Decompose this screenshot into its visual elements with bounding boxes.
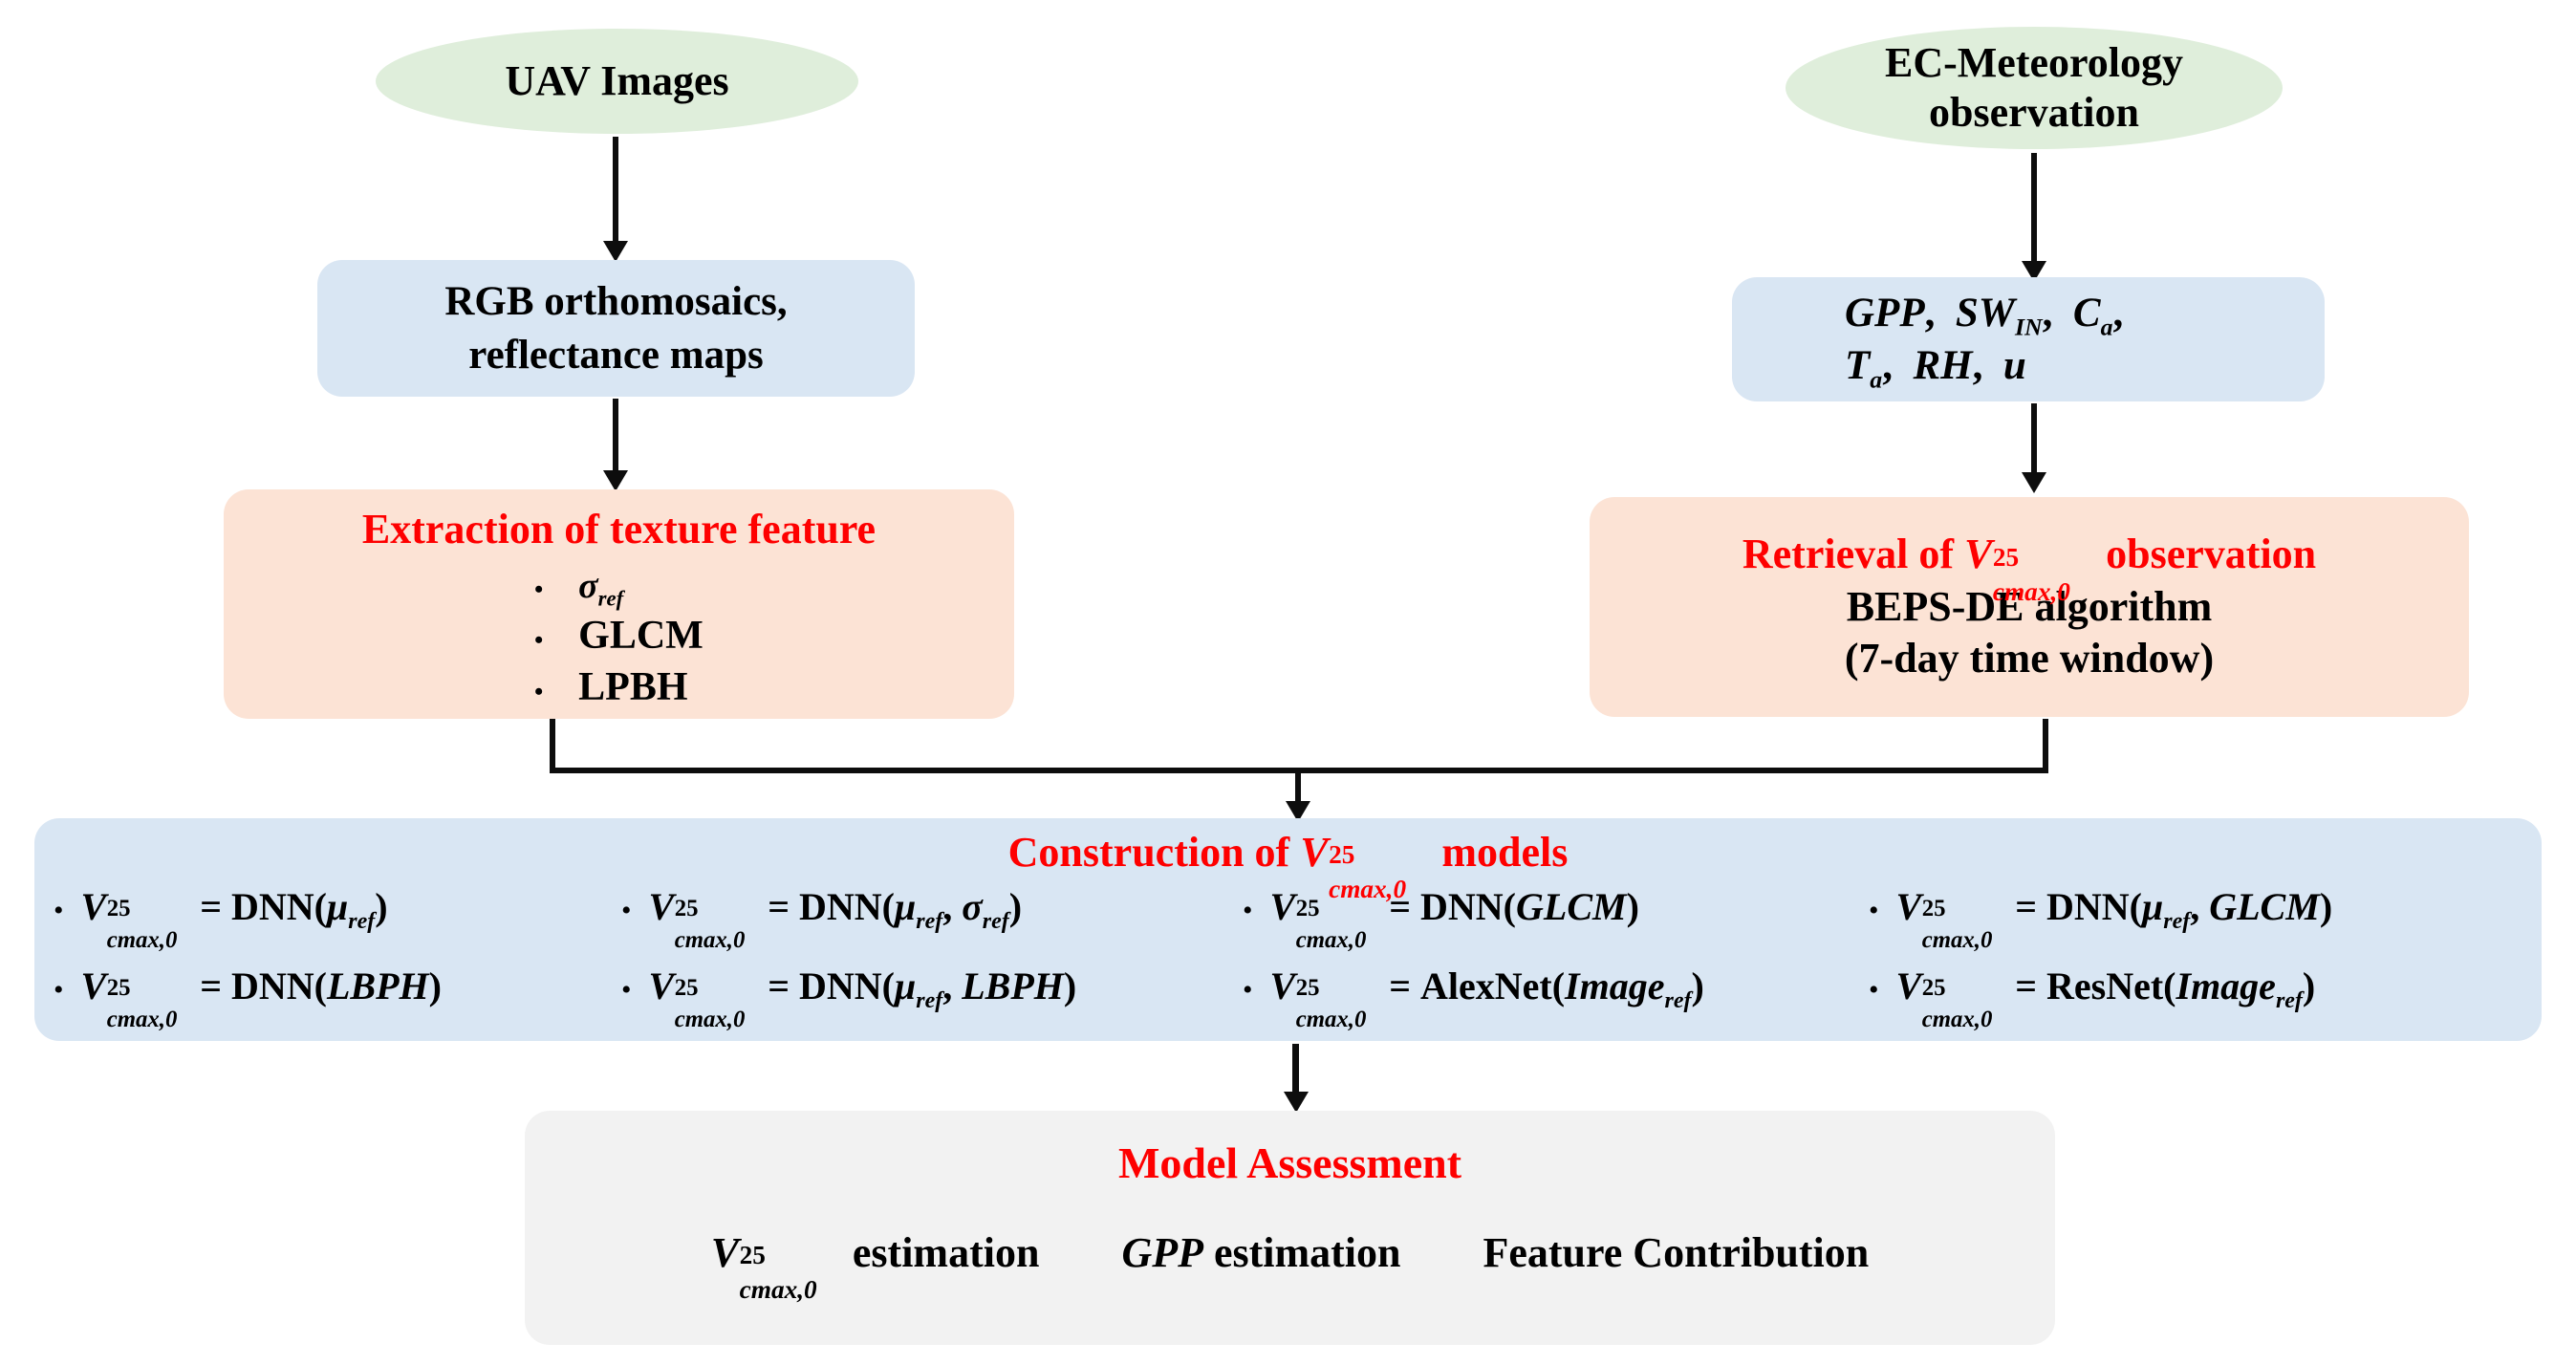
model-equation-8: • V25cmax,0= ResNet(Imageref)	[1869, 964, 2315, 1008]
model-equation-8-text: V25cmax,0= ResNet(Imageref)	[1896, 964, 2316, 1008]
connector-uav-to-rgb	[613, 137, 618, 247]
var-sw-sub: IN	[2015, 314, 2043, 341]
var-rh: RH	[1913, 343, 1972, 388]
model-equation-2-text: V25cmax,0= DNN(μref, σref)	[649, 884, 1023, 929]
assessment-item-feature-contribution: Feature Contribution	[1483, 1228, 1870, 1277]
bullet-icon: •	[54, 897, 64, 925]
sep-1: ,	[1925, 291, 1936, 336]
bullet-icon: •	[621, 897, 632, 925]
model-equation-4-text: V25cmax,0= DNN(μref, GLCM)	[1896, 884, 2333, 929]
texture-item-sigma: • σref	[534, 565, 704, 607]
texture-item-glcm-label: GLCM	[578, 613, 704, 659]
model-equation-6-text: V25cmax,0= DNN(μref, LBPH)	[649, 964, 1077, 1008]
node-texture-extraction: Extraction of texture feature • σref • G…	[224, 489, 1014, 719]
node-ec-variables: GPP, SWIN, Ca, Ta, RH, u	[1732, 277, 2325, 401]
node-ec-line1: EC-Meteorology	[1885, 38, 2183, 88]
node-uav-images: UAV Images	[376, 29, 858, 134]
assessment-item-vcmax: V25cmax,0 estimation	[711, 1228, 1040, 1277]
vcmax-symbol: V25cmax,0	[1964, 529, 1992, 581]
rgb-line1: RGB orthomosaics,	[444, 275, 787, 328]
retrieval-heading: Retrieval of V25cmax,0 observation	[1743, 529, 2316, 581]
arrowhead-models-to-assessment	[1284, 1092, 1309, 1113]
texture-heading: Extraction of texture feature	[362, 505, 876, 553]
var-u: u	[2003, 343, 2026, 388]
model-equation-1-text: V25cmax,0= DNN(μref)	[81, 884, 388, 929]
bullet-icon: •	[1869, 976, 1879, 1005]
texture-item-sigma-label: σref	[578, 565, 623, 607]
var-gpp: GPP	[1845, 291, 1925, 336]
node-uav-images-label: UAV Images	[505, 56, 728, 106]
bullet-icon: •	[534, 680, 578, 704]
model-equation-3-text: V25cmax,0= DNN(GLCM)	[1270, 884, 1639, 929]
assessment-items: V25cmax,0 estimation GPP estimation Feat…	[525, 1228, 2055, 1277]
retrieval-line3: (7-day time window)	[1845, 633, 2214, 685]
connector-retrieval-down	[2043, 719, 2048, 773]
model-equation-3: • V25cmax,0= DNN(GLCM)	[1243, 884, 1639, 929]
assessment-item-gpp: GPP estimation	[1121, 1228, 1400, 1277]
texture-item-lpbh-label: LPBH	[578, 664, 687, 710]
arrowhead-rgb-to-texture	[603, 470, 628, 491]
connector-texture-down	[550, 719, 555, 773]
flowchart-canvas: UAV Images EC-Meteorology observation RG…	[0, 0, 2576, 1365]
sep-5: ,	[1973, 343, 1983, 388]
bullet-icon: •	[1243, 976, 1253, 1005]
sep-3: ,	[2113, 291, 2124, 336]
var-ca-sub: a	[2101, 314, 2113, 341]
node-ec-meteorology: EC-Meteorology observation	[1786, 27, 2283, 149]
model-equation-5-text: V25cmax,0= DNN(LBPH)	[81, 964, 442, 1008]
bullet-icon: •	[621, 976, 632, 1005]
model-equation-6: • V25cmax,0= DNN(μref, LBPH)	[621, 964, 1076, 1008]
sep-2: ,	[2043, 291, 2053, 336]
texture-item-glcm: • GLCM	[534, 613, 704, 659]
texture-feature-list: • σref • GLCM • LPBH	[534, 559, 704, 716]
var-ta: T	[1845, 343, 1870, 388]
var-ca: C	[2073, 291, 2101, 336]
arrowhead-vars-to-retrieval	[2022, 472, 2046, 493]
node-rgb-orthomosaics: RGB orthomosaics, reflectance maps	[317, 260, 915, 397]
node-model-assessment: Model Assessment V25cmax,0 estimation GP…	[525, 1111, 2055, 1345]
vcmax-symbol: V25cmax,0	[1300, 828, 1328, 877]
model-equation-7: • V25cmax,0= AlexNet(Imageref)	[1243, 964, 1704, 1008]
ec-variables-line1: GPP, SWIN, Ca,	[1845, 287, 2123, 339]
arrowhead-uav-to-rgb	[603, 241, 628, 262]
ec-variables-line2: Ta, RH, u	[1845, 339, 2026, 392]
model-equation-1: • V25cmax,0= DNN(μref)	[54, 884, 388, 929]
var-sw: SW	[1956, 291, 2015, 336]
rgb-line2: reflectance maps	[468, 329, 763, 381]
connector-ec-to-vars	[2031, 153, 2037, 268]
bullet-icon: •	[1243, 897, 1253, 925]
model-equation-4: • V25cmax,0= DNN(μref, GLCM)	[1869, 884, 2332, 929]
assessment-heading: Model Assessment	[1118, 1137, 1461, 1188]
bullet-icon: •	[1869, 897, 1879, 925]
node-ec-line2: observation	[1929, 88, 2139, 138]
bullet-icon: •	[54, 976, 64, 1005]
model-equation-5: • V25cmax,0= DNN(LBPH)	[54, 964, 442, 1008]
sep-4: ,	[1882, 343, 1893, 388]
bullet-icon: •	[534, 628, 578, 653]
var-ta-sub: a	[1870, 366, 1882, 394]
connector-vars-to-retrieval	[2031, 403, 2037, 482]
models-heading: Construction of V25cmax,0 models	[1008, 828, 1569, 877]
model-equation-2: • V25cmax,0= DNN(μref, σref)	[621, 884, 1022, 929]
connector-rgb-to-texture	[613, 399, 618, 481]
bullet-icon: •	[534, 577, 578, 602]
model-equation-7-text: V25cmax,0= AlexNet(Imageref)	[1270, 964, 1704, 1008]
texture-item-lpbh: • LPBH	[534, 664, 704, 710]
node-vcmax-retrieval: Retrieval of V25cmax,0 observation BEPS-…	[1590, 497, 2469, 717]
